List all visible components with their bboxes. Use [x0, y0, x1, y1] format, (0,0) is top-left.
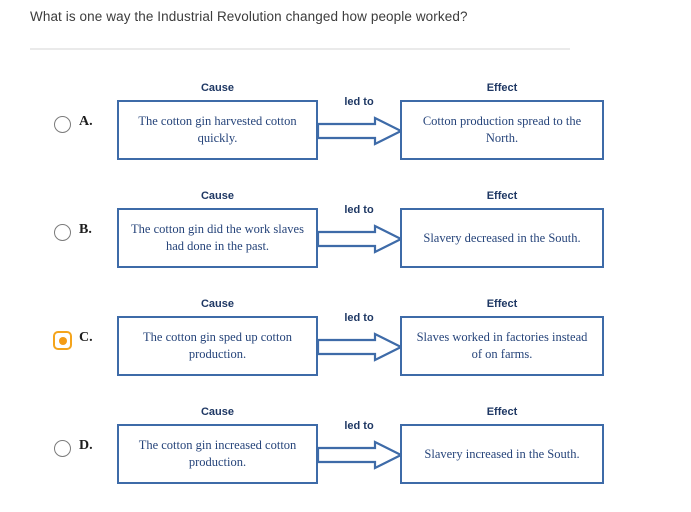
cause-text-c: The cotton gin sped up cotton production… — [127, 329, 308, 363]
connector-label-c: led to — [318, 312, 400, 324]
effect-box-d: Slavery increased in the South. — [400, 424, 604, 484]
effect-text-d: Slavery increased in the South. — [424, 446, 579, 463]
arrow-icon-d — [317, 440, 403, 470]
cause-effect-diagram-d: Cause Effect The cotton gin increased co… — [0, 406, 691, 492]
effect-box-c: Slaves worked in factories instead of on… — [400, 316, 604, 376]
cause-text-b: The cotton gin did the work slaves had d… — [127, 221, 308, 255]
effect-box-b: Slavery decreased in the South. — [400, 208, 604, 268]
option-row-a[interactable]: A. Cause Effect The cotton gin harvested… — [0, 82, 691, 168]
cause-box-c: The cotton gin sped up cotton production… — [117, 316, 318, 376]
cause-header-b: Cause — [117, 190, 318, 202]
cause-header-d: Cause — [117, 406, 318, 418]
connector-label-d: led to — [318, 420, 400, 432]
cause-header-a: Cause — [117, 82, 318, 94]
effect-header-d: Effect — [400, 406, 604, 418]
arrow-icon-c — [317, 332, 403, 362]
effect-header-c: Effect — [400, 298, 604, 310]
page-title: What is one way the Industrial Revolutio… — [30, 8, 650, 26]
cause-box-b: The cotton gin did the work slaves had d… — [117, 208, 318, 268]
effect-box-a: Cotton production spread to the North. — [400, 100, 604, 160]
connector-label-b: led to — [318, 204, 400, 216]
cause-header-c: Cause — [117, 298, 318, 310]
effect-header-a: Effect — [400, 82, 604, 94]
header-divider — [30, 48, 570, 50]
option-row-c[interactable]: C. Cause Effect The cotton gin sped up c… — [0, 298, 691, 384]
cause-text-a: The cotton gin harvested cotton quickly. — [127, 113, 308, 147]
cause-effect-diagram-b: Cause Effect The cotton gin did the work… — [0, 190, 691, 276]
effect-text-a: Cotton production spread to the North. — [410, 113, 594, 147]
option-row-d[interactable]: D. Cause Effect The cotton gin increased… — [0, 406, 691, 492]
cause-text-d: The cotton gin increased cotton producti… — [127, 437, 308, 471]
connector-label-a: led to — [318, 96, 400, 108]
cause-effect-diagram-c: Cause Effect The cotton gin sped up cott… — [0, 298, 691, 384]
arrow-icon-b — [317, 224, 403, 254]
cause-box-d: The cotton gin increased cotton producti… — [117, 424, 318, 484]
effect-text-b: Slavery decreased in the South. — [423, 230, 580, 247]
effect-header-b: Effect — [400, 190, 604, 202]
option-row-b[interactable]: B. Cause Effect The cotton gin did the w… — [0, 190, 691, 276]
cause-box-a: The cotton gin harvested cotton quickly. — [117, 100, 318, 160]
effect-text-c: Slaves worked in factories instead of on… — [410, 329, 594, 363]
arrow-icon-a — [317, 116, 403, 146]
cause-effect-diagram-a: Cause Effect The cotton gin harvested co… — [0, 82, 691, 168]
